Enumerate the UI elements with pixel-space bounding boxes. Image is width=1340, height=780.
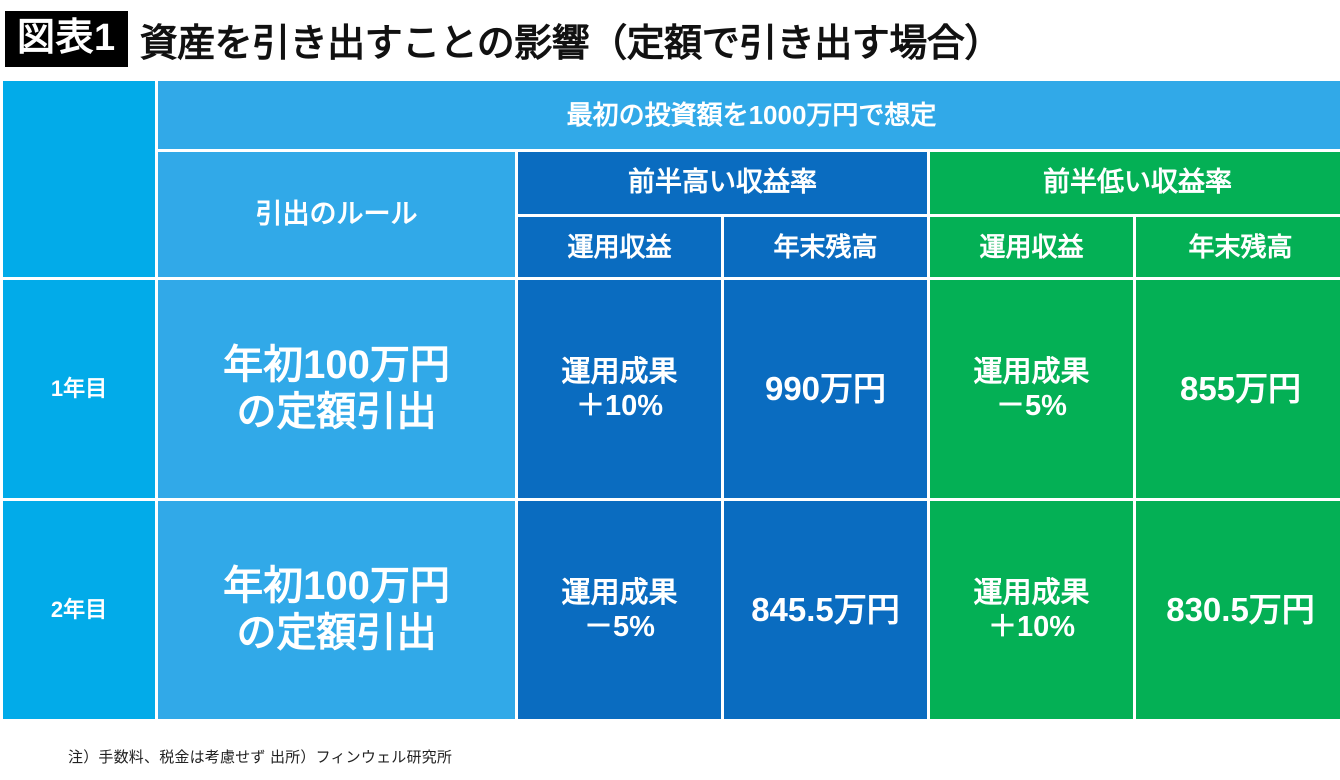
cell-high-return-year-1: 運用成果 ＋10% xyxy=(518,280,721,498)
figure-number-badge: 図表1 xyxy=(5,11,128,67)
impact-of-withdrawal-table: 最初の投資額を1000万円で想定 引出のルール 前半高い収益率 前半低い収益率 … xyxy=(0,78,1340,722)
cell-high-return-year-2-line-1: 運用成果 xyxy=(518,576,721,610)
header-low-year-end-balance: 年末残高 xyxy=(1136,217,1340,277)
header-assumption-span: 最初の投資額を1000万円で想定 xyxy=(158,81,1340,149)
row-label-year-1: 1年目 xyxy=(3,280,155,498)
header-group-low-first-half: 前半低い収益率 xyxy=(930,152,1340,214)
cell-low-return-year-1-line-2: －5% xyxy=(930,389,1133,423)
cell-rule-year-2: 年初100万円 の定額引出 xyxy=(158,501,515,719)
cell-rule-year-1-line-2: の定額引出 xyxy=(158,389,515,436)
cell-high-balance-year-2: 845.5万円 xyxy=(724,501,927,719)
header-withdrawal-rule: 引出のルール xyxy=(158,152,515,277)
cell-low-return-year-2: 運用成果 ＋10% xyxy=(930,501,1133,719)
cell-low-return-year-2-line-1: 運用成果 xyxy=(930,576,1133,610)
cell-low-return-year-1: 運用成果 －5% xyxy=(930,280,1133,498)
cell-low-return-year-2-line-2: ＋10% xyxy=(930,610,1133,644)
page-title: 資産を引き出すことの影響（定額で引き出す場合） xyxy=(140,12,1002,67)
table-header-row-assumption: 最初の投資額を1000万円で想定 xyxy=(3,81,1340,149)
table-row: 2年目 年初100万円 の定額引出 運用成果 －5% 845.5万円 運用成果 … xyxy=(3,501,1340,719)
header-corner-cell xyxy=(3,81,155,277)
cell-rule-year-1: 年初100万円 の定額引出 xyxy=(158,280,515,498)
table-header-row-groups: 引出のルール 前半高い収益率 前半低い収益率 xyxy=(3,152,1340,214)
cell-high-return-year-1-line-1: 運用成果 xyxy=(518,355,721,389)
header-high-investment-return: 運用収益 xyxy=(518,217,721,277)
header-group-high-first-half: 前半高い収益率 xyxy=(518,152,927,214)
cell-high-return-year-2-line-2: －5% xyxy=(518,610,721,644)
row-label-year-2: 2年目 xyxy=(3,501,155,719)
header-high-year-end-balance: 年末残高 xyxy=(724,217,927,277)
cell-rule-year-2-line-2: の定額引出 xyxy=(158,610,515,657)
cell-low-return-year-1-line-1: 運用成果 xyxy=(930,355,1133,389)
data-table-container: 最初の投資額を1000万円で想定 引出のルール 前半高い収益率 前半低い収益率 … xyxy=(0,78,1340,738)
cell-low-balance-year-1: 855万円 xyxy=(1136,280,1340,498)
cell-high-return-year-2: 運用成果 －5% xyxy=(518,501,721,719)
cell-rule-year-1-line-1: 年初100万円 xyxy=(158,342,515,389)
table-row: 1年目 年初100万円 の定額引出 運用成果 ＋10% 990万円 運用成果 －… xyxy=(3,280,1340,498)
table-footnote: 注）手数料、税金は考慮せず 出所）フィンウェル研究所 xyxy=(0,746,1340,767)
cell-high-return-year-1-line-2: ＋10% xyxy=(518,389,721,423)
header-low-investment-return: 運用収益 xyxy=(930,217,1133,277)
cell-rule-year-2-line-1: 年初100万円 xyxy=(158,563,515,610)
cell-high-balance-year-1: 990万円 xyxy=(724,280,927,498)
figure-title-row: 図表1 資産を引き出すことの影響（定額で引き出す場合） xyxy=(0,0,1340,78)
cell-low-balance-year-2: 830.5万円 xyxy=(1136,501,1340,719)
